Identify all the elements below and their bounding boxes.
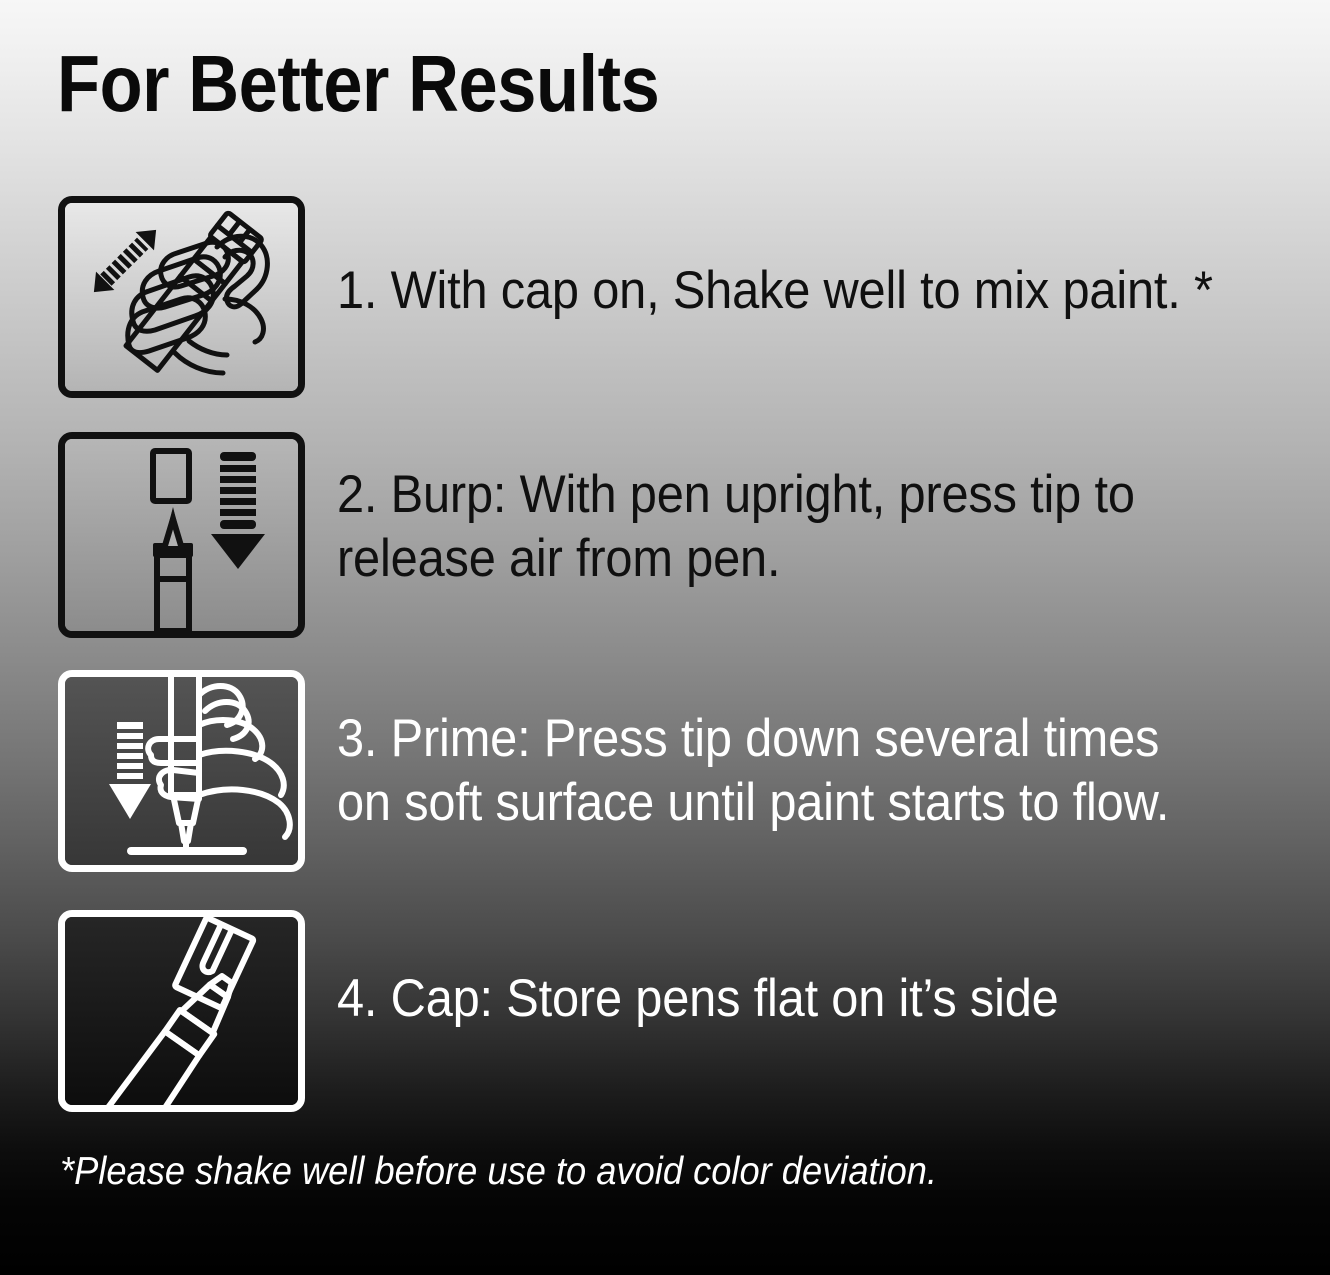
cap-pen-icon <box>58 910 305 1112</box>
burp-pen-icon <box>58 432 305 638</box>
page-title: For Better Results <box>57 41 659 127</box>
footnote-text: *Please shake well before use to avoid c… <box>60 1148 937 1196</box>
step-label-4: 4. Cap: Store pens flat on it’s side <box>337 967 1214 1031</box>
step-label-3: 3. Prime: Press tip down several times o… <box>337 707 1214 835</box>
step-label-1: 1. With cap on, Shake well to mix paint.… <box>337 259 1214 323</box>
step-label-2: 2. Burp: With pen upright, press tip to … <box>337 463 1214 591</box>
instruction-poster: For Better Results <box>0 0 1330 1275</box>
shake-pen-icon <box>58 196 305 398</box>
prime-pen-icon <box>58 670 305 872</box>
